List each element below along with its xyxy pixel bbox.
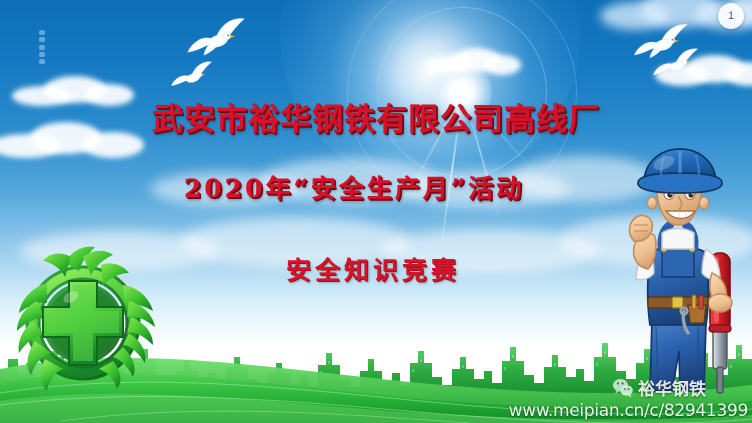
green-safety-cross-wreath-logo xyxy=(5,243,165,403)
blue-hard-hat-icon xyxy=(638,149,722,193)
worker-legs xyxy=(650,321,706,391)
safety-cross-icon xyxy=(43,281,123,365)
page-number-badge: 1 xyxy=(718,3,744,29)
cartoon-construction-worker xyxy=(600,145,752,400)
worker-flexed-arm xyxy=(630,216,657,269)
presentation-slide: 武安市裕华钢铁有限公司高线厂 2020年“安全生产月”活动 安全知识竞赛 1 裕… xyxy=(0,0,752,423)
